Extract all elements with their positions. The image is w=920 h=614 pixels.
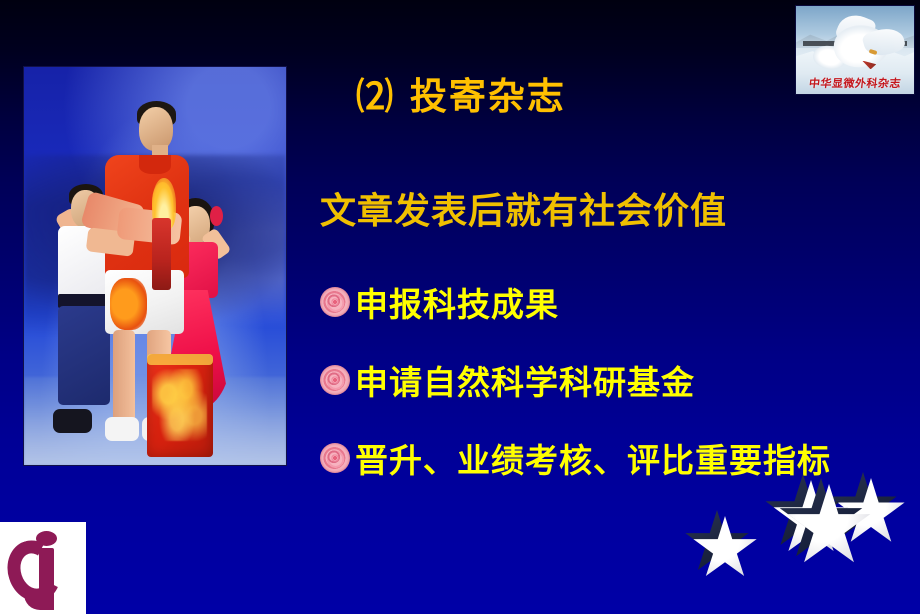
list-item-label: 晋升、业绩考核、评比重要指标 bbox=[355, 434, 831, 482]
page-title: ⑵ 投寄杂志 bbox=[356, 66, 566, 120]
photo-adult-collar bbox=[139, 155, 170, 175]
subtitle-text: 文章发表后就有社会价值 bbox=[320, 182, 727, 234]
rose-bullet-icon bbox=[320, 365, 350, 395]
photo-drum-dragon-pattern bbox=[152, 369, 207, 441]
star-icon bbox=[786, 484, 872, 570]
presentation-slide: 中华显微外科杂志 ⑵ 投寄杂志 文章发表后就有社会价值 申报科技成果 申请自然科… bbox=[0, 0, 920, 614]
star-icon bbox=[692, 516, 758, 582]
ceremony-photo bbox=[24, 67, 286, 465]
photo-adult-shoe-left bbox=[105, 417, 139, 441]
journal-logo-title: 中华显微外科杂志 bbox=[795, 75, 915, 91]
rose-bullet-icon bbox=[320, 287, 350, 317]
rose-bullet-icon bbox=[320, 443, 350, 473]
list-item: 申报科技成果 bbox=[320, 278, 910, 326]
list-item-label: 申报科技成果 bbox=[355, 278, 559, 326]
list-item-label: 申请自然科学科研基金 bbox=[355, 356, 695, 404]
photo-boy-pants bbox=[58, 306, 110, 406]
organization-logo bbox=[0, 522, 86, 614]
photo-boy-shoe bbox=[53, 409, 92, 433]
photo-drum-rim bbox=[147, 354, 213, 366]
photo-adult-shorts-pattern bbox=[110, 278, 147, 330]
logo-letter-j-hook bbox=[24, 592, 54, 610]
list-item: 申请自然科学科研基金 bbox=[320, 356, 910, 404]
photo-adult-leg-left bbox=[113, 330, 135, 426]
journal-logo: 中华显微外科杂志 bbox=[795, 5, 915, 95]
photo-torch bbox=[152, 218, 170, 290]
logo-letter-j-dot bbox=[36, 531, 57, 546]
